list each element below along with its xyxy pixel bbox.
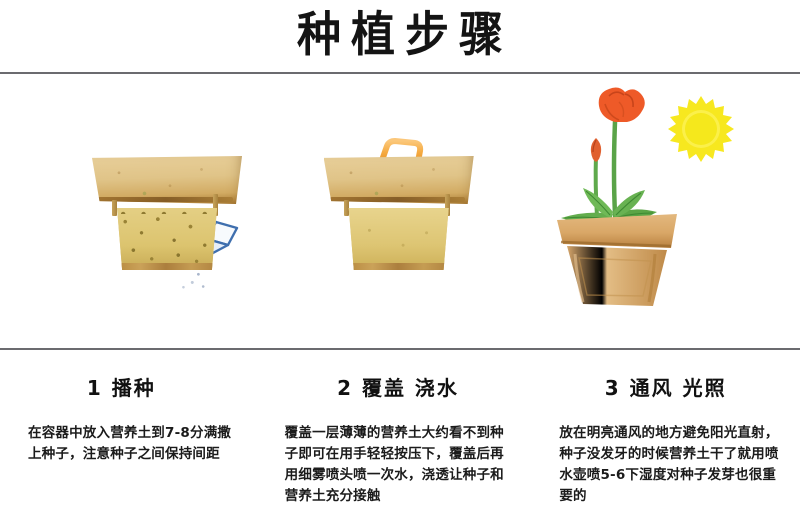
soil-covered: [347, 208, 449, 270]
pot-stem-left: [344, 200, 349, 216]
step-1-body: 在容器中放入营养土到7-8分满撒上种子，注意种子之间保持间距: [16, 423, 251, 465]
terracotta-pot: [555, 214, 679, 310]
illustration-row: [0, 74, 800, 348]
illustration-step-1: [0, 74, 267, 348]
page-title: 种植步骤: [287, 12, 513, 60]
illustration-step-3: [533, 74, 800, 348]
pot-base-edge: [115, 263, 217, 270]
flower-plant-icon: [553, 82, 673, 232]
soil-with-seeds: [115, 208, 217, 270]
page-header: 种植步骤: [0, 0, 800, 72]
caption-step-2: 2 覆盖 浇水 覆盖一层薄薄的营养土大约看不到种子即可在用手轻轻按压下，覆盖后再…: [267, 372, 534, 507]
soil-seed-line: [115, 208, 217, 214]
step-1-heading: 1 播种: [16, 372, 251, 401]
pot-soil-box: [347, 208, 449, 270]
pot-stem-left: [112, 200, 117, 216]
sun-icon-render: [668, 96, 734, 162]
caption-step-3: 3 通风 光照 放在明亮通风的地方避免阳光直射，种子没发牙的时候营养土干了就用喷…: [533, 372, 800, 507]
pot-rim: [324, 156, 474, 204]
step-2-heading: 2 覆盖 浇水: [283, 372, 518, 401]
pot-base-edge: [347, 263, 449, 270]
caption-row: 1 播种 在容器中放入营养土到7-8分满撒上种子，注意种子之间保持间距 2 覆盖…: [0, 350, 800, 507]
pot-soil-box: [115, 208, 217, 270]
step-3-body: 放在明亮通风的地方避免阳光直射，种子没发牙的时候营养土干了就用喷水壶喷5-6下湿…: [549, 423, 784, 507]
pot-rim: [92, 156, 242, 204]
caption-step-1: 1 播种 在容器中放入营养土到7-8分满撒上种子，注意种子之间保持间距: [0, 372, 267, 507]
step-3-heading: 3 通风 光照: [549, 372, 784, 401]
illustration-step-2: [267, 74, 534, 348]
step-2-body: 覆盖一层薄薄的营养土大约看不到种子即可在用手轻轻按压下，覆盖后再用细雾喷头喷一次…: [283, 423, 518, 507]
